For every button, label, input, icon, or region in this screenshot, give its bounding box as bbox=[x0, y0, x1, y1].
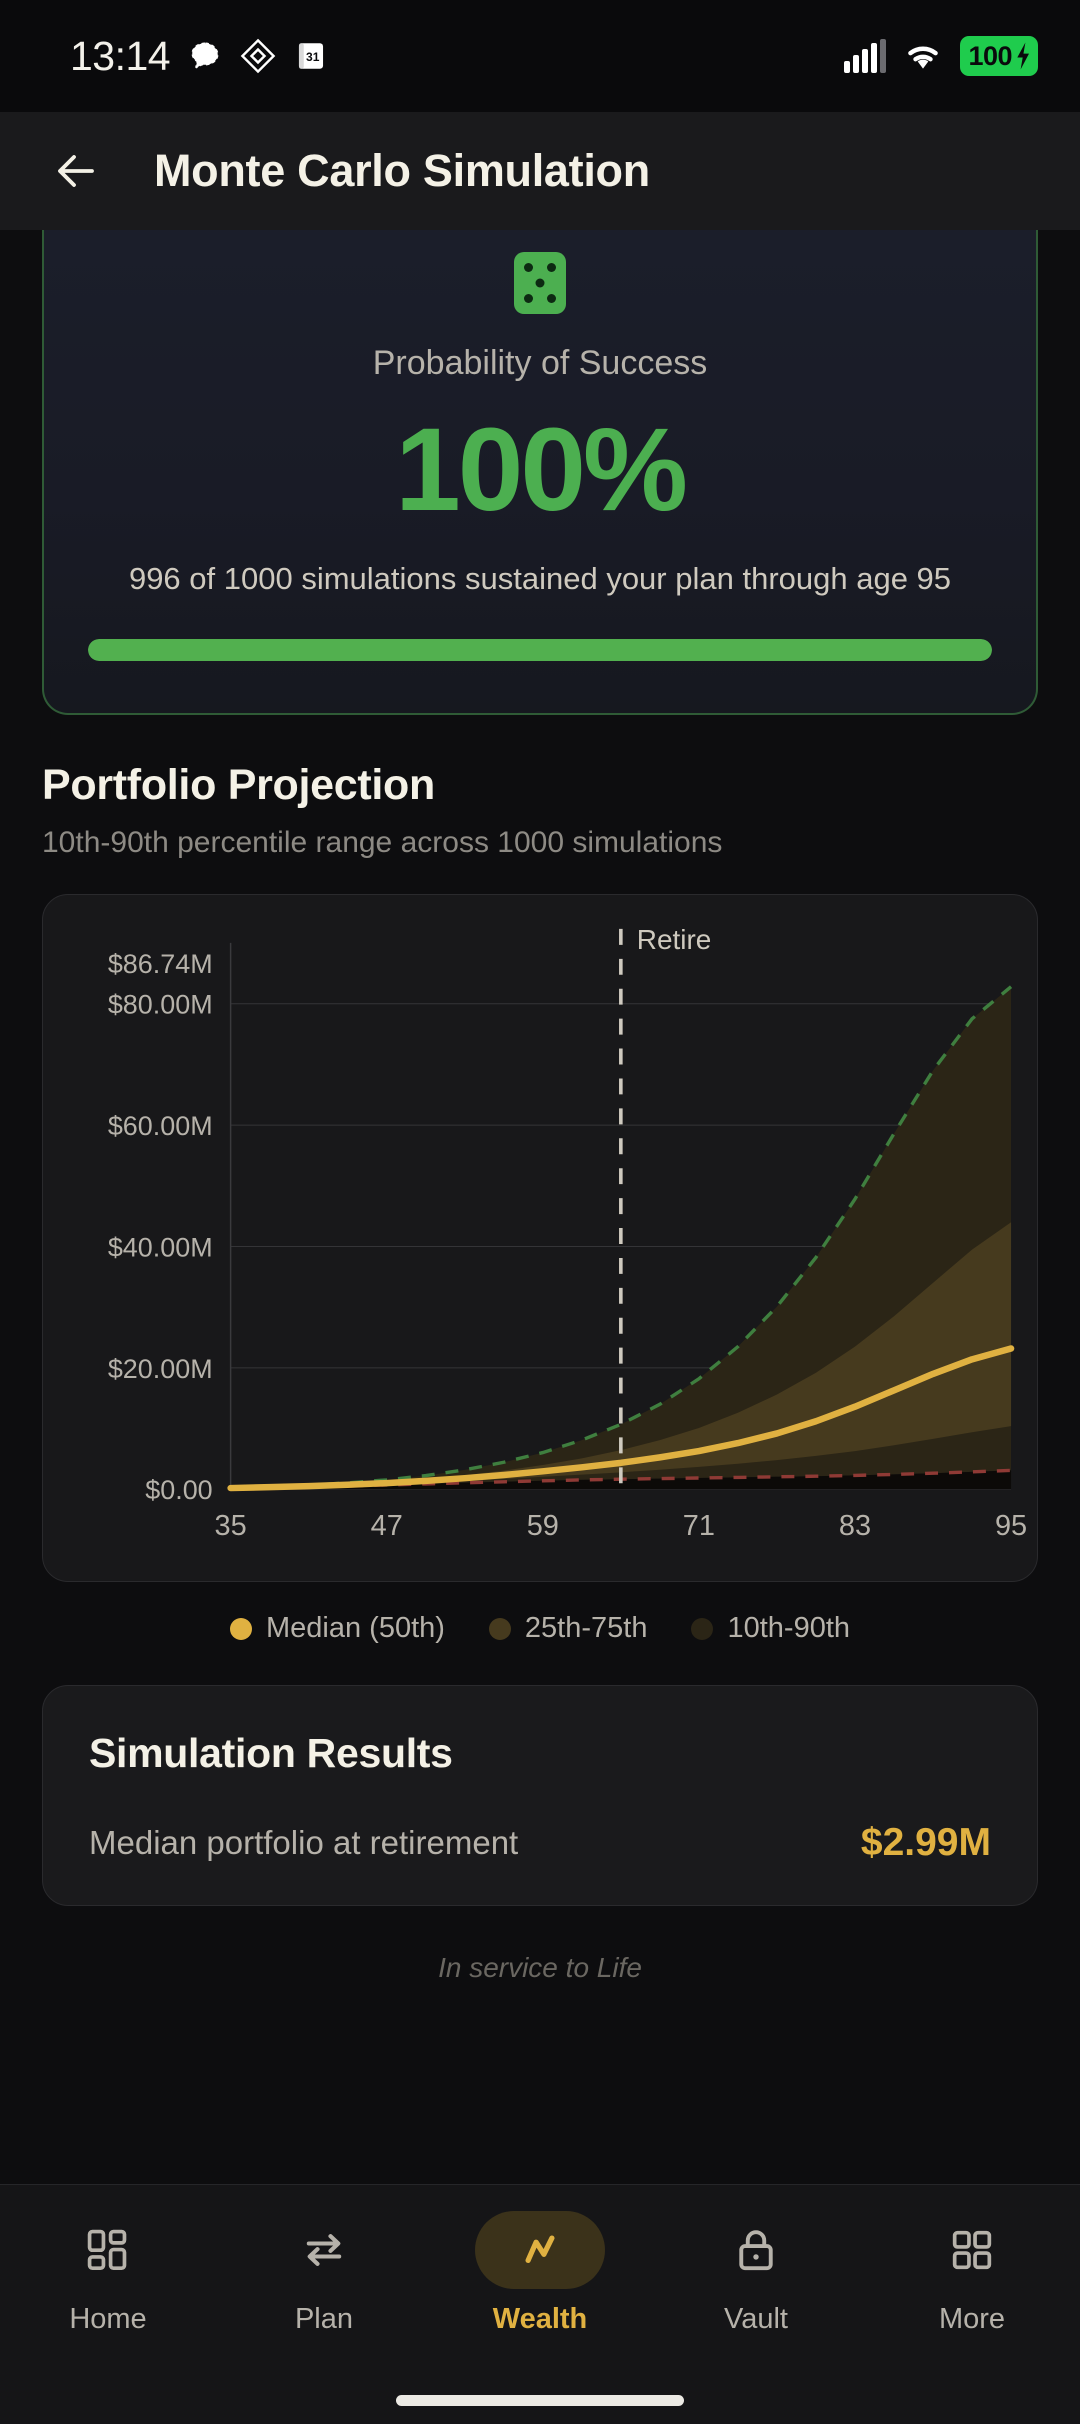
wifi-icon bbox=[902, 39, 944, 73]
probability-value: 100% bbox=[88, 397, 992, 545]
battery-percent-label: 100 bbox=[968, 41, 1012, 72]
projection-chart-svg: $0.00$20.00M$40.00M$60.00M$80.00M$86.74M… bbox=[43, 895, 1037, 1581]
svg-text:Retire: Retire bbox=[637, 924, 712, 955]
battery-indicator: 100 bbox=[960, 36, 1038, 76]
legend-color-swatch bbox=[230, 1618, 252, 1640]
calendar-31-icon: 31 bbox=[294, 39, 328, 73]
probability-of-success-card: Probability of Success 100% 996 of 1000 … bbox=[42, 230, 1038, 715]
lock-icon bbox=[730, 2224, 782, 2276]
diamond-nav-icon bbox=[240, 38, 276, 74]
nav-icon-container bbox=[259, 2211, 389, 2289]
app-bar: Monte Carlo Simulation bbox=[0, 112, 1080, 230]
status-bar-right: 100 bbox=[844, 36, 1038, 76]
status-bar: 13:14 31 bbox=[0, 0, 1080, 112]
charging-bolt-icon bbox=[1012, 41, 1034, 71]
dashboard-grid-icon bbox=[82, 2224, 134, 2276]
projection-subtitle: 10th-90th percentile range across 1000 s… bbox=[42, 826, 1038, 860]
projection-title: Portfolio Projection bbox=[42, 761, 1038, 810]
grid-squares-icon bbox=[946, 2224, 998, 2276]
chart-legend: Median (50th) 25th-75th 10th-90th bbox=[0, 1582, 1080, 1663]
nav-icon-container bbox=[691, 2211, 821, 2289]
legend-item-median: Median (50th) bbox=[230, 1612, 445, 1645]
page-title: Monte Carlo Simulation bbox=[154, 145, 650, 197]
nav-label: More bbox=[939, 2303, 1005, 2336]
result-label: Median portfolio at retirement bbox=[89, 1824, 518, 1862]
probability-progress-track bbox=[88, 639, 992, 661]
svg-text:$60.00M: $60.00M bbox=[108, 1111, 213, 1141]
svg-text:59: 59 bbox=[527, 1511, 559, 1543]
app-tagline: In service to Life bbox=[0, 1906, 1080, 1984]
probability-detail: 996 of 1000 simulations sustained your p… bbox=[88, 559, 992, 600]
svg-text:$40.00M: $40.00M bbox=[108, 1233, 213, 1263]
simulation-results-card: Simulation Results Median portfolio at r… bbox=[42, 1685, 1038, 1906]
cellular-signal-icon bbox=[844, 39, 886, 73]
nav-item-more[interactable]: More bbox=[864, 2211, 1080, 2336]
nav-item-plan[interactable]: Plan bbox=[216, 2211, 432, 2336]
legend-label: 25th-75th bbox=[525, 1612, 648, 1645]
nav-label: Wealth bbox=[493, 2303, 588, 2336]
svg-text:$20.00M: $20.00M bbox=[108, 1354, 213, 1384]
svg-text:47: 47 bbox=[371, 1511, 403, 1543]
simulation-results-title: Simulation Results bbox=[89, 1730, 991, 1777]
legend-item-10-90: 10th-90th bbox=[691, 1612, 850, 1645]
nav-icon-container bbox=[475, 2211, 605, 2289]
status-bar-left: 13:14 31 bbox=[70, 33, 328, 80]
back-arrow-icon bbox=[52, 147, 100, 195]
nav-label: Plan bbox=[295, 2303, 353, 2336]
svg-text:35: 35 bbox=[215, 1511, 247, 1543]
probability-label: Probability of Success bbox=[88, 344, 992, 383]
status-bar-clock: 13:14 bbox=[70, 33, 170, 80]
speech-bubble-icon bbox=[188, 39, 222, 73]
trend-chart-icon bbox=[514, 2224, 566, 2276]
swap-arrows-icon bbox=[298, 2224, 350, 2276]
legend-label: Median (50th) bbox=[266, 1612, 445, 1645]
svg-text:31: 31 bbox=[306, 50, 320, 64]
svg-text:71: 71 bbox=[683, 1511, 715, 1543]
svg-text:$80.00M: $80.00M bbox=[108, 990, 213, 1020]
nav-label: Home bbox=[69, 2303, 146, 2336]
projection-section-header: Portfolio Projection 10th-90th percentil… bbox=[0, 715, 1080, 860]
home-indicator bbox=[0, 2376, 1080, 2424]
dice-icon bbox=[514, 252, 566, 314]
result-value: $2.99M bbox=[861, 1821, 991, 1865]
probability-progress-fill bbox=[88, 639, 992, 661]
svg-text:83: 83 bbox=[839, 1511, 871, 1543]
nav-item-wealth[interactable]: Wealth bbox=[432, 2211, 648, 2336]
scroll-content[interactable]: Probability of Success 100% 996 of 1000 … bbox=[0, 230, 1080, 2184]
svg-text:$86.74M: $86.74M bbox=[108, 949, 213, 979]
svg-text:95: 95 bbox=[995, 1511, 1027, 1543]
portfolio-projection-chart[interactable]: $0.00$20.00M$40.00M$60.00M$80.00M$86.74M… bbox=[42, 894, 1038, 1582]
nav-icon-container bbox=[907, 2211, 1037, 2289]
nav-item-home[interactable]: Home bbox=[0, 2211, 216, 2336]
nav-icon-container bbox=[43, 2211, 173, 2289]
back-button[interactable] bbox=[48, 143, 104, 199]
legend-color-swatch bbox=[691, 1618, 713, 1640]
nav-item-vault[interactable]: Vault bbox=[648, 2211, 864, 2336]
bottom-navigation-bar: Home Plan Wealth bbox=[0, 2184, 1080, 2376]
legend-item-25-75: 25th-75th bbox=[489, 1612, 648, 1645]
app-screen: 13:14 31 bbox=[0, 0, 1080, 2424]
legend-label: 10th-90th bbox=[727, 1612, 850, 1645]
nav-label: Vault bbox=[724, 2303, 788, 2336]
result-row: Median portfolio at retirement $2.99M bbox=[89, 1821, 991, 1865]
svg-text:$0.00: $0.00 bbox=[145, 1476, 212, 1506]
legend-color-swatch bbox=[489, 1618, 511, 1640]
